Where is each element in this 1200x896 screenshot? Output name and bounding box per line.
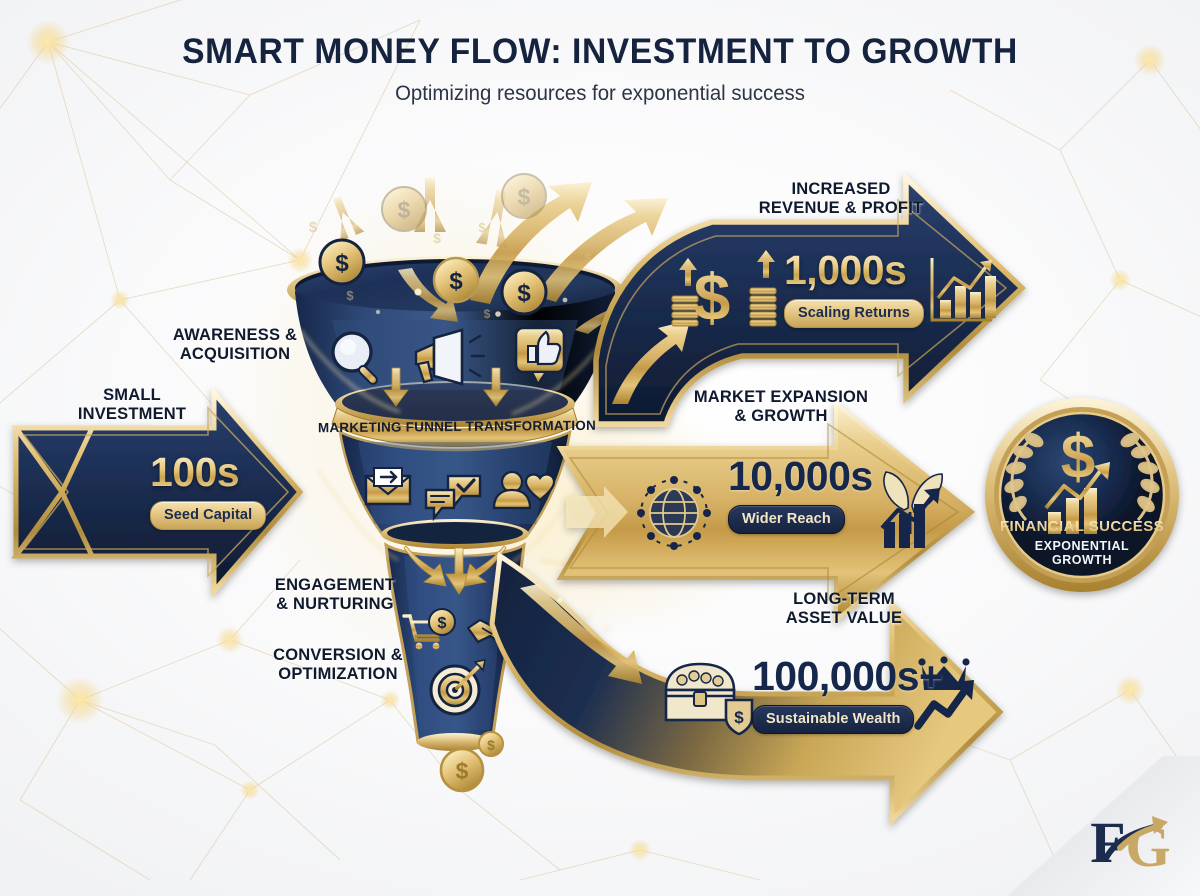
header: SMART MONEY FLOW: INVESTMENT TO GROWTH O… — [0, 34, 1200, 106]
wider-reach-badge: Wider Reach — [728, 505, 845, 534]
long-term-asset-value-block: 100,000s+ Sustainable Wealth — [752, 656, 972, 734]
increased-revenue-value: 1,000s — [784, 250, 964, 291]
svg-text:$: $ — [398, 197, 411, 223]
svg-text:$: $ — [335, 250, 349, 277]
svg-text:$: $ — [478, 220, 486, 235]
page-subtitle: Optimizing resources for exponential suc… — [18, 82, 1182, 106]
svg-text:$: $ — [585, 251, 592, 265]
dollar-coin-icon: $ — [320, 240, 364, 284]
svg-text:$: $ — [484, 307, 491, 321]
label-engagement-nurturing: ENGAGEMENT & NURTURING — [240, 576, 430, 615]
label-long-term-asset-value: LONG-TERM ASSET VALUE — [740, 590, 948, 629]
svg-text:$: $ — [433, 230, 441, 246]
medallion-subtitle: EXPONENTIAL GROWTH — [982, 539, 1182, 568]
fg-monogram-arrow-logo: F G — [1086, 796, 1182, 882]
label-small-investment: SMALL INVESTMENT — [42, 386, 222, 425]
funnel-band-label: MARKETING FUNNEL TRANSFORMATION — [316, 417, 598, 437]
increased-revenue-value-block: 1,000s Scaling Returns — [784, 250, 964, 328]
svg-text:$: $ — [438, 615, 447, 632]
label-market-expansion-growth: MARKET EXPANSION & GROWTH — [672, 388, 890, 427]
svg-text:$: $ — [309, 219, 318, 236]
label-conversion-optimization: CONVERSION & OPTIMIZATION — [238, 646, 438, 685]
svg-text:$: $ — [456, 758, 469, 784]
svg-text:$: $ — [517, 280, 531, 307]
svg-text:$: $ — [734, 708, 744, 727]
svg-text:$: $ — [346, 288, 354, 303]
svg-text:$: $ — [487, 737, 495, 753]
long-term-asset-value: 100,000s+ — [752, 656, 972, 697]
medallion-title: FINANCIAL SUCCESS — [982, 518, 1182, 535]
flow-diagram-graphics: $ — [0, 0, 1200, 896]
label-awareness-acquisition: AWARENESS & ACQUISITION — [140, 326, 330, 365]
medallion-text-block: FINANCIAL SUCCESS EXPONENTIAL GROWTH — [982, 518, 1182, 568]
svg-text:$: $ — [449, 268, 463, 295]
small-investment-value-block: 100s Seed Capital — [150, 452, 300, 530]
infographic-canvas: $ — [0, 0, 1200, 896]
small-investment-value: 100s — [150, 452, 300, 493]
seed-capital-badge: Seed Capital — [150, 501, 266, 530]
market-expansion-value-block: 10,000s Wider Reach — [728, 456, 918, 534]
svg-text:$: $ — [694, 260, 731, 334]
market-expansion-value: 10,000s — [728, 456, 918, 497]
svg-text:$: $ — [518, 184, 531, 210]
scaling-returns-badge: Scaling Returns — [784, 299, 924, 328]
sustainable-wealth-badge: Sustainable Wealth — [752, 705, 914, 734]
label-increased-revenue-profit: INCREASED REVENUE & PROFIT — [730, 180, 952, 219]
page-title: SMART MONEY FLOW: INVESTMENT TO GROWTH — [24, 34, 1176, 71]
